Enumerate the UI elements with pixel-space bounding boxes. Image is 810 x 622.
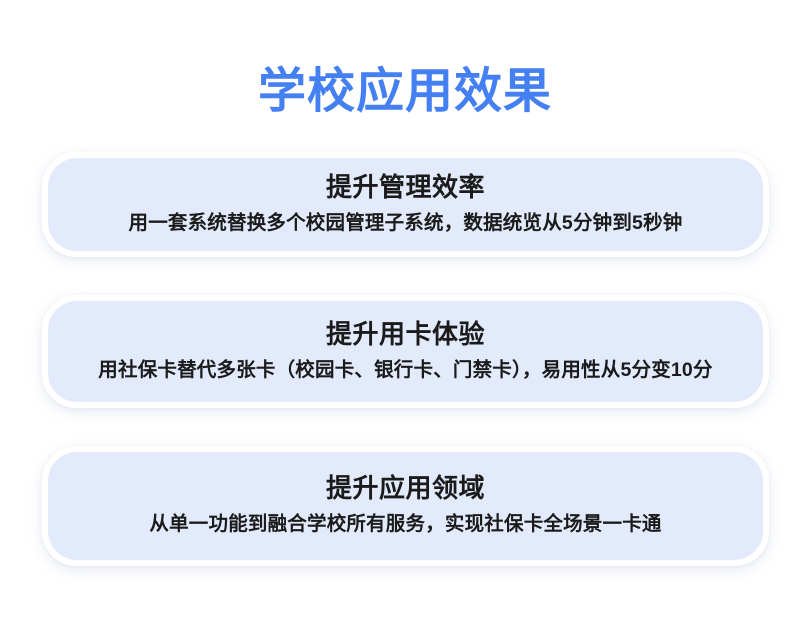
effect-card-description: 从单一功能到融合学校所有服务，实现社保卡全场景一卡通: [66, 510, 745, 538]
effect-card-title: 提升用卡体验: [66, 317, 745, 351]
effect-card-body: 提升用卡体验 用社保卡替代多张卡（校园卡、银行卡、门禁卡），易用性从5分变10分: [48, 301, 763, 402]
effect-card: 提升应用领域 从单一功能到融合学校所有服务，实现社保卡全场景一卡通: [42, 446, 769, 566]
effect-card-body: 提升应用领域 从单一功能到融合学校所有服务，实现社保卡全场景一卡通: [48, 452, 763, 560]
effect-card-description: 用一套系统替换多个校园管理子系统，数据统览从5分钟到5秒钟: [66, 209, 745, 237]
page-title: 学校应用效果: [0, 62, 810, 122]
effect-card: 提升管理效率 用一套系统替换多个校园管理子系统，数据统览从5分钟到5秒钟: [42, 152, 769, 257]
effect-card: 提升用卡体验 用社保卡替代多张卡（校园卡、银行卡、门禁卡），易用性从5分变10分: [42, 295, 769, 408]
school-effect-page: 学校应用效果 提升管理效率 用一套系统替换多个校园管理子系统，数据统览从5分钟到…: [0, 0, 810, 622]
effect-card-title: 提升管理效率: [66, 170, 745, 204]
effect-card-list: 提升管理效率 用一套系统替换多个校园管理子系统，数据统览从5分钟到5秒钟 提升用…: [42, 152, 769, 566]
effect-card-description: 用社保卡替代多张卡（校园卡、银行卡、门禁卡），易用性从5分变10分: [66, 356, 745, 384]
effect-card-body: 提升管理效率 用一套系统替换多个校园管理子系统，数据统览从5分钟到5秒钟: [48, 158, 763, 251]
effect-card-title: 提升应用领域: [66, 471, 745, 505]
